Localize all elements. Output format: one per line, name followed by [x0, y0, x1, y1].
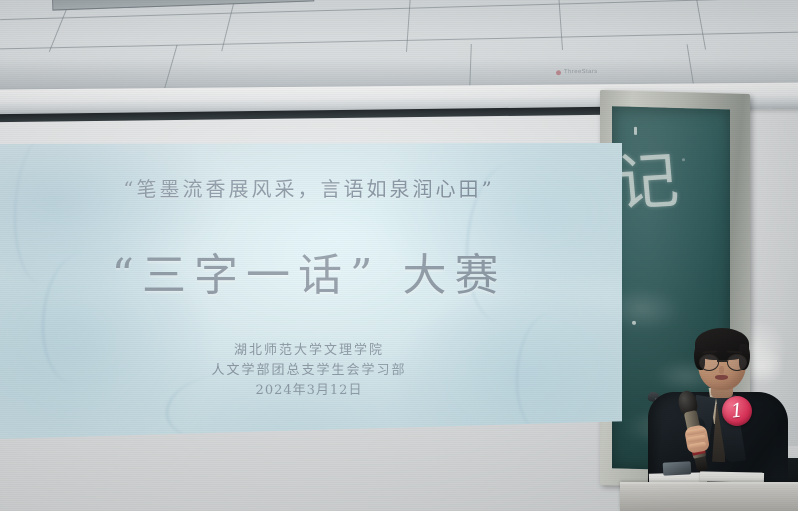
presenter-mouth	[715, 375, 728, 380]
glasses-lens-right	[727, 354, 747, 371]
suspended-ceiling	[0, 0, 798, 96]
lectern-desk-edge	[620, 482, 798, 486]
projector-brand-label: ThreeStars	[556, 66, 634, 79]
projection-screen: “笔墨流香展风采，言语如泉润心田” “三字一话” 大赛 湖北师范大学文理学院 人…	[0, 143, 622, 439]
presenter-nose	[719, 366, 724, 374]
slide-subtitle: “笔墨流香展风采，言语如泉润心田”	[0, 173, 622, 202]
glasses-lens-left	[699, 354, 719, 371]
podium-handout	[700, 471, 764, 482]
ceiling-vent	[52, 0, 315, 11]
slide-org-line-2: 人文学部团总支学生会学习部	[0, 361, 622, 381]
slide-org-line-1: 湖北师范大学文理学院	[0, 341, 622, 361]
slide-content: “笔墨流香展风采，言语如泉润心田” “三字一话” 大赛 湖北师范大学文理学院 人…	[0, 143, 622, 439]
presenter-hand	[684, 424, 710, 453]
classroom-photo: ThreeStars 记 “笔墨流香展风采，言语如泉润心田” “三字一话” 大赛	[0, 0, 798, 511]
brand-text: ThreeStars	[564, 69, 598, 75]
glasses-bridge	[717, 360, 727, 362]
brand-logo-icon	[556, 70, 561, 75]
microphone-tip	[695, 456, 709, 472]
podium-device	[663, 461, 692, 475]
slide-title: “三字一话” 大赛	[0, 239, 622, 303]
slide-date: 2024年3月12日	[0, 381, 622, 401]
slide-footer: 湖北师范大学文理学院 人文学部团总支学生会学习部 2024年3月12日	[0, 341, 622, 401]
badge-number: 1	[730, 401, 744, 421]
lectern-desk	[620, 482, 798, 511]
chalk-writing: 记	[612, 129, 682, 223]
